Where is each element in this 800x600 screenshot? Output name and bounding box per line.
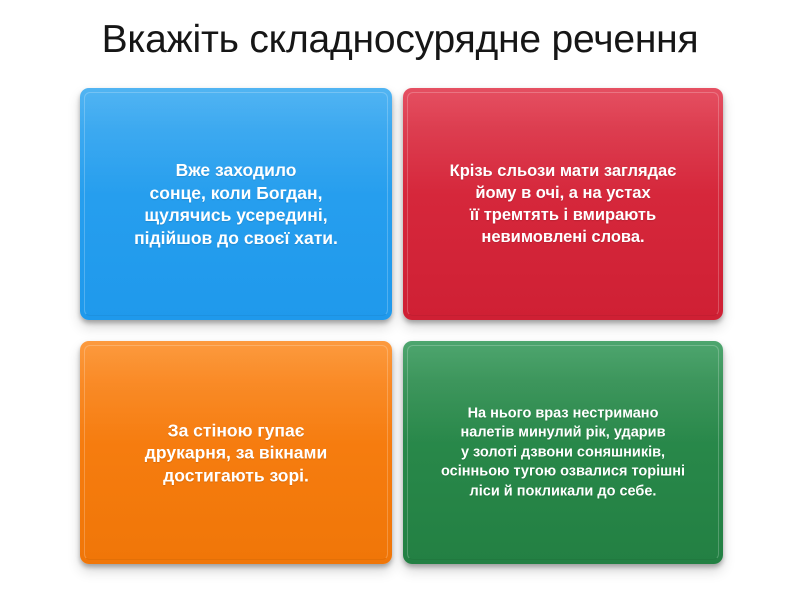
quiz-slide: Вкажіть складносурядне речення Вже заход… [0,0,800,600]
answer-option-c[interactable]: За стіною гупає друкарня, за вікнами дос… [80,341,392,564]
answer-option-a[interactable]: Вже заходило сонце, коли Богдан, щулячис… [80,88,392,320]
answer-option-d[interactable]: На нього враз нестримано налетів минулий… [403,341,723,564]
answer-option-b[interactable]: Крізь сльози мати заглядає йому в очі, а… [403,88,723,320]
answer-option-b-text: Крізь сльози мати заглядає йому в очі, а… [415,160,711,248]
answer-option-c-text: За стіною гупає друкарня, за вікнами дос… [92,419,380,487]
page-title: Вкажіть складносурядне речення [0,16,800,64]
answer-option-d-text: На нього враз нестримано налетів минулий… [415,404,711,502]
answer-option-a-text: Вже заходило сонце, коли Богдан, щулячис… [92,159,380,249]
answer-options-grid: Вже заходило сонце, коли Богдан, щулячис… [80,88,723,564]
